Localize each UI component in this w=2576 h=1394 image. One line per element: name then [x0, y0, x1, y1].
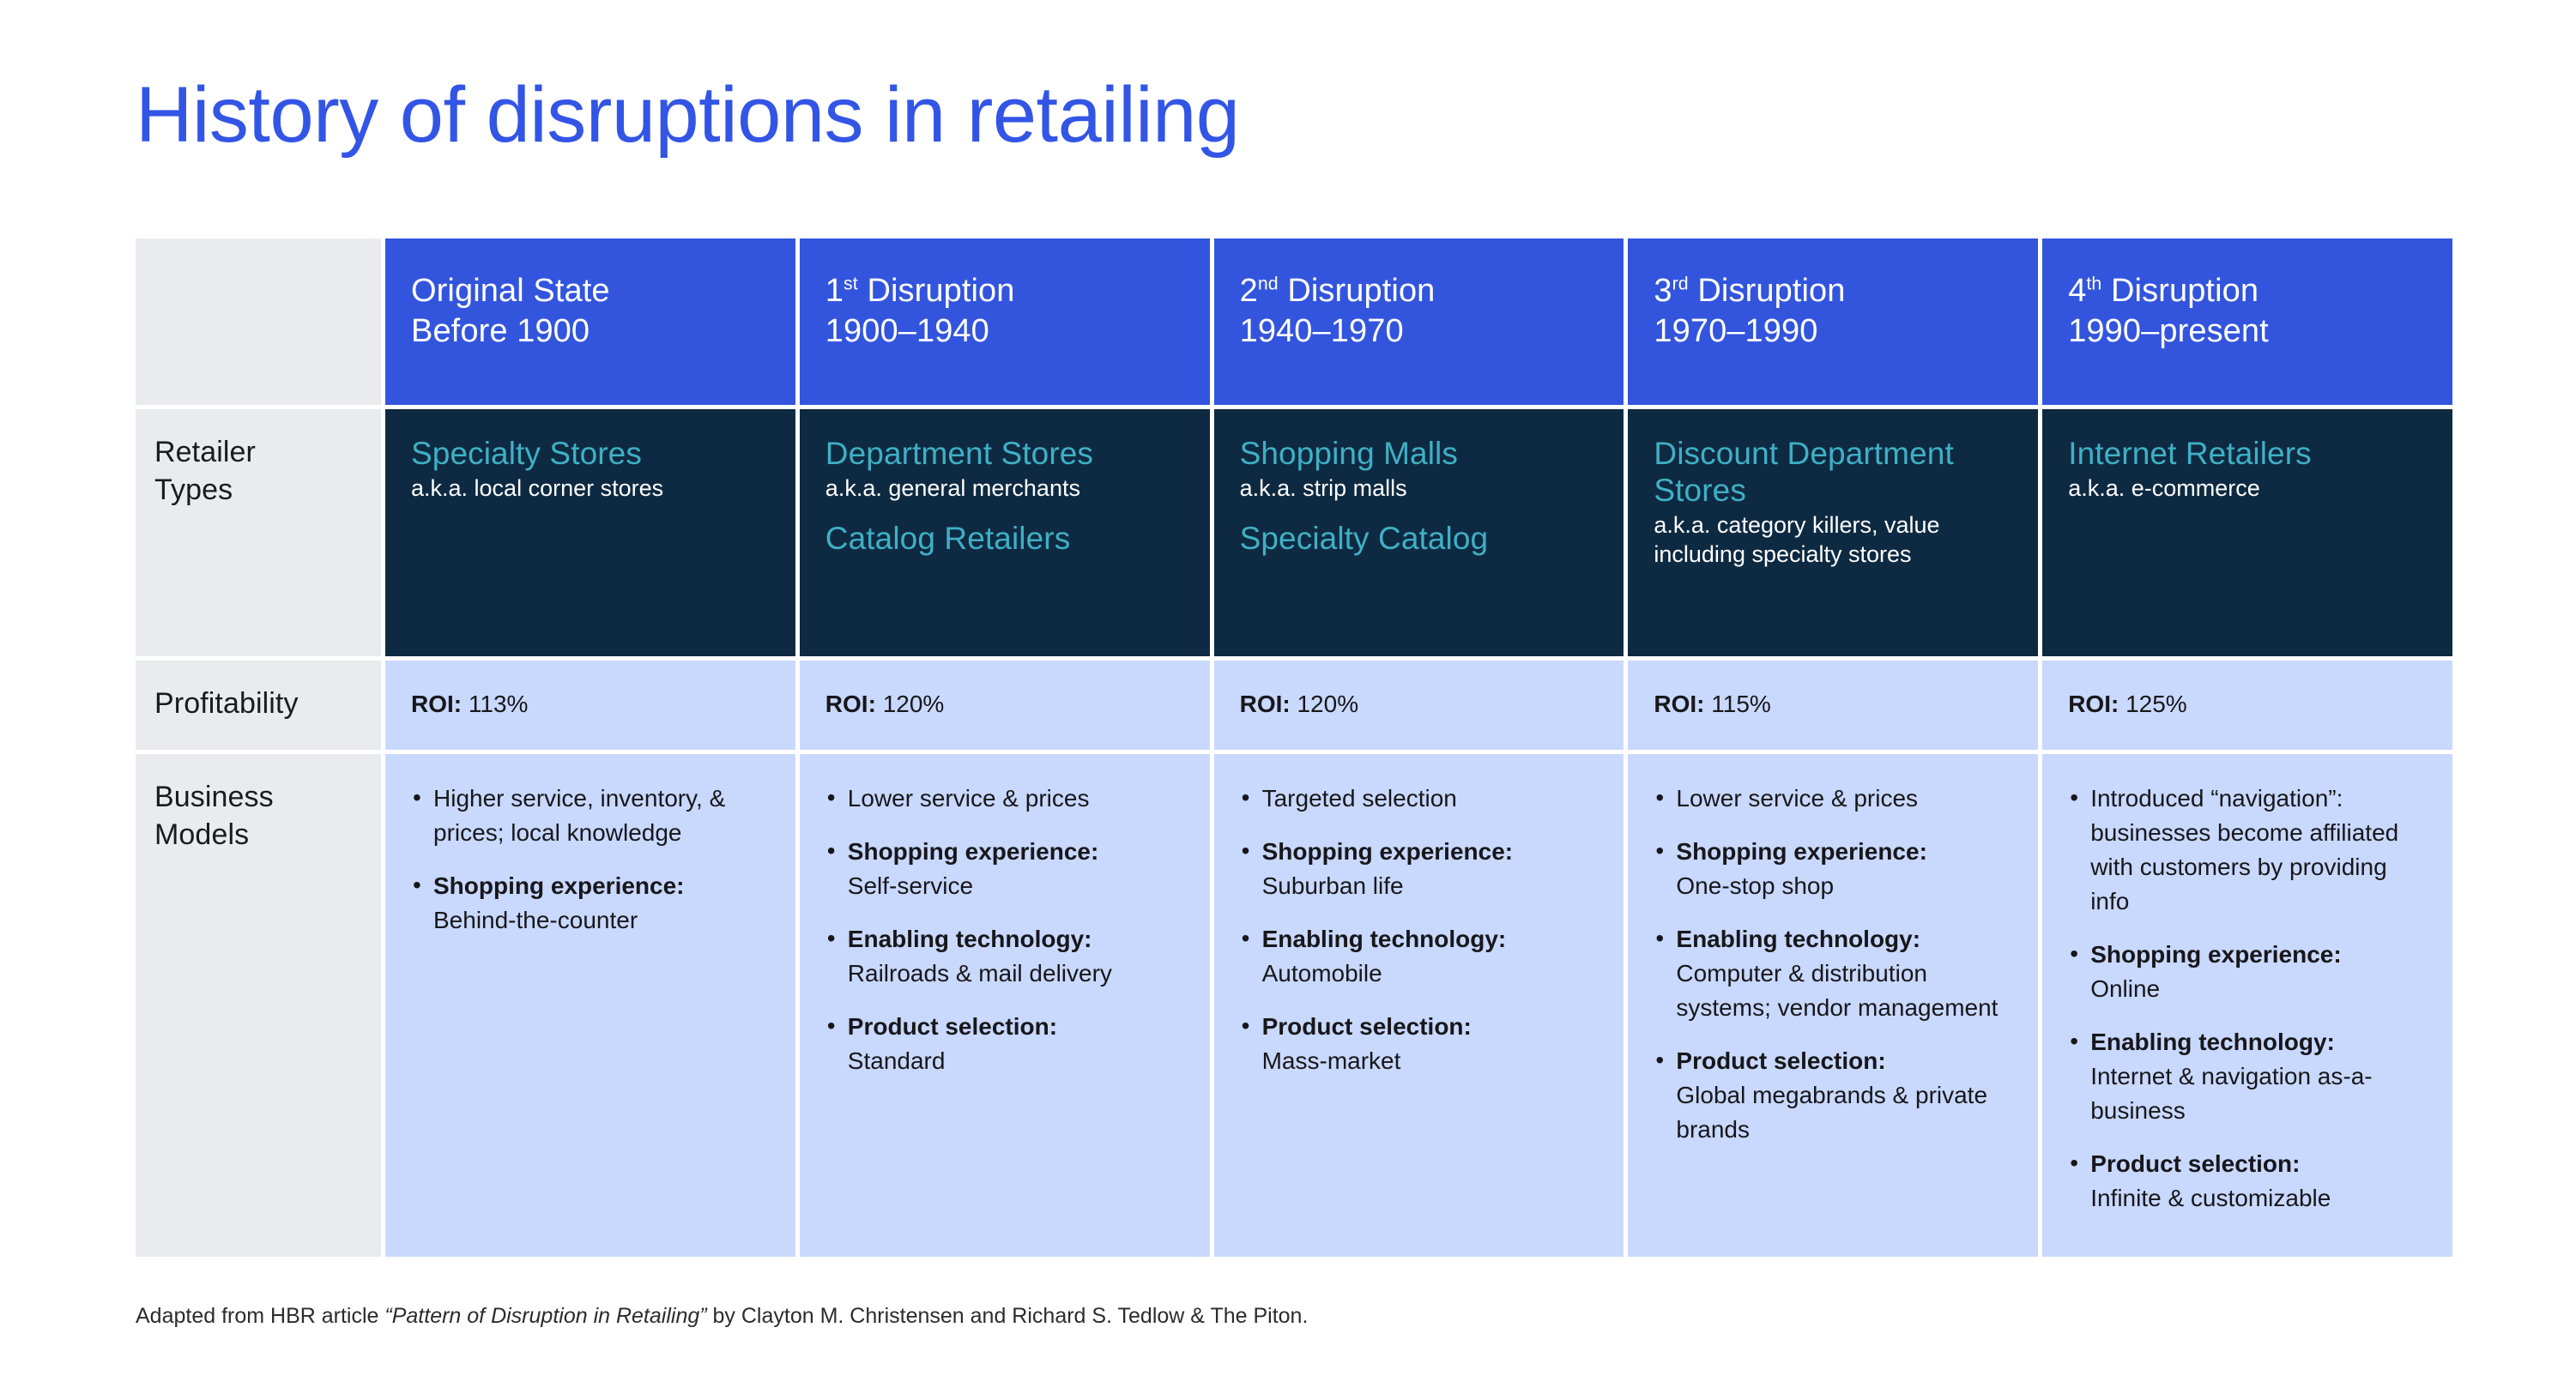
business-models-cell-3: Lower service & pricesShopping experienc…: [1628, 754, 2038, 1257]
business-model-item: Enabling technology:Railroads & mail del…: [825, 922, 1184, 991]
business-model-item: Enabling technology:Computer & distribut…: [1654, 922, 2012, 1025]
column-header-3: 3rd Disruption 1970–1990: [1628, 238, 2038, 405]
table-corner-cell: [136, 238, 381, 405]
roi-number-1: 120%: [883, 691, 945, 717]
business-model-item: Enabling technology:Internet & navigatio…: [2068, 1025, 2427, 1128]
row-label-profitability: Profitability: [136, 661, 381, 750]
business-model-item-label: Shopping experience:: [433, 872, 685, 899]
business-model-item-label: Product selection:: [1676, 1047, 1885, 1074]
business-model-item-text: Suburban life: [1262, 872, 1404, 899]
roi-label-2: ROI:: [1240, 691, 1291, 717]
business-model-item-text: Computer & distribution systems; vendor …: [1676, 960, 1998, 1021]
business-model-item-text: Internet & navigation as-a-business: [2090, 1063, 2372, 1124]
column-header-name-1: 1st Disruption: [825, 271, 1184, 311]
profitability-cell-0: ROI: 113%: [385, 661, 795, 750]
business-model-item-text: Online: [2090, 975, 2160, 1002]
business-model-item: Shopping experience:One-stop shop: [1654, 835, 2012, 903]
business-model-item-text: Standard: [848, 1047, 946, 1074]
retailer-type-name-3: Discount Department Stores: [1654, 435, 2012, 509]
business-model-item: Higher service, inventory, & prices; loc…: [411, 781, 770, 850]
business-model-item: Product selection:Infinite & customizabl…: [2068, 1147, 2427, 1216]
retailer-type-aka-4: a.k.a. e-commerce: [2068, 474, 2427, 503]
column-header-name-2: 2nd Disruption: [1240, 271, 1599, 311]
column-header-4: 4th Disruption 1990–present: [2042, 238, 2452, 405]
column-header-period-1: 1900–1940: [825, 311, 1184, 352]
row-label-profitability-text: Profitability: [154, 685, 362, 722]
row-label-retailer-types: Retailer Types: [136, 409, 381, 656]
retailer-types-cell-1: Department Stores a.k.a. general merchan…: [800, 409, 1210, 656]
business-models-list-2: Targeted selectionShopping experience:Su…: [1240, 781, 1599, 1078]
ordinal-suffix-3: rd: [1672, 273, 1689, 293]
business-models-cell-2: Targeted selectionShopping experience:Su…: [1214, 754, 1624, 1257]
retailer-types-cell-2: Shopping Malls a.k.a. strip malls Specia…: [1214, 409, 1624, 656]
business-model-item-label: Shopping experience:: [1676, 838, 1927, 865]
business-model-item: Shopping experience:Suburban life: [1240, 835, 1599, 903]
business-model-item-label: Enabling technology:: [1676, 926, 1920, 952]
column-header-name-3: 3rd Disruption: [1654, 271, 2012, 311]
roi-number-2: 120%: [1297, 691, 1358, 717]
business-model-item-text: Lower service & prices: [1676, 785, 1918, 812]
roi-label-0: ROI:: [411, 691, 462, 717]
roi-value-2: ROI: 120%: [1240, 690, 1599, 719]
roi-number-3: 115%: [1711, 691, 1771, 717]
business-model-item: Product selection:Standard: [825, 1010, 1184, 1078]
column-header-name-4: 4th Disruption: [2068, 271, 2427, 311]
column-header-period-2: 1940–1970: [1240, 311, 1599, 352]
profitability-cell-1: ROI: 120%: [800, 661, 1210, 750]
footnote-suffix: by Clayton M. Christensen and Richard S.…: [707, 1304, 1309, 1328]
retailer-type-name-4: Internet Retailers: [2068, 435, 2427, 472]
business-model-item-text: Behind-the-counter: [433, 907, 638, 933]
business-model-item-text: Infinite & customizable: [2090, 1185, 2331, 1211]
retailer-type-name-2b: Specialty Catalog: [1240, 520, 1599, 557]
row-label-retailer-types-line1: Retailer: [154, 433, 362, 471]
business-model-item: Shopping experience:Behind-the-counter: [411, 869, 770, 938]
retailer-types-cell-3: Discount Department Stores a.k.a. catego…: [1628, 409, 2038, 656]
business-model-item: Product selection:Global megabrands & pr…: [1654, 1044, 2012, 1147]
roi-number-4: 125%: [2126, 691, 2187, 717]
business-model-item: Product selection:Mass-market: [1240, 1010, 1599, 1078]
column-header-2: 2nd Disruption 1940–1970: [1214, 238, 1624, 405]
business-model-item-text: Lower service & prices: [848, 785, 1090, 812]
ordinal-suffix-1: st: [844, 273, 858, 293]
business-model-item: Enabling technology:Automobile: [1240, 922, 1599, 991]
business-model-item-text: Global megabrands & private brands: [1676, 1082, 1987, 1143]
business-model-item-label: Enabling technology:: [848, 926, 1092, 952]
business-model-item: Shopping experience:Online: [2068, 938, 2427, 1006]
ordinal-suffix-2: nd: [1258, 273, 1279, 293]
business-model-item-label: Enabling technology:: [2090, 1029, 2335, 1055]
business-model-item: Introduced “navigation”: businesses beco…: [2068, 781, 2427, 919]
profitability-cell-2: ROI: 120%: [1214, 661, 1624, 750]
column-header-0: Original State Before 1900: [385, 238, 795, 405]
business-models-list-3: Lower service & pricesShopping experienc…: [1654, 781, 2012, 1147]
business-models-list-1: Lower service & pricesShopping experienc…: [825, 781, 1184, 1078]
retailer-type-aka-2: a.k.a. strip malls: [1240, 474, 1599, 503]
business-model-item-label: Shopping experience:: [848, 838, 1099, 865]
roi-label-1: ROI:: [825, 691, 876, 717]
row-label-business-models: Business Models: [136, 754, 381, 1257]
business-models-list-4: Introduced “navigation”: businesses beco…: [2068, 781, 2427, 1216]
roi-number-0: 113%: [469, 691, 529, 717]
row-label-business-models-line1: Business: [154, 778, 362, 816]
page-title: History of disruptions in retailing: [136, 74, 1239, 156]
business-models-cell-0: Higher service, inventory, & prices; loc…: [385, 754, 795, 1257]
footnote-article-title: “Pattern of Disruption in Retailing”: [384, 1304, 706, 1328]
business-model-item-text: One-stop shop: [1676, 872, 1834, 899]
row-label-retailer-types-line2: Types: [154, 471, 362, 509]
business-model-item-label: Product selection:: [1262, 1013, 1472, 1040]
ordinal-suffix-4: th: [2086, 273, 2101, 293]
business-model-item: Lower service & prices: [825, 781, 1184, 816]
retailer-type-name-2: Shopping Malls: [1240, 435, 1599, 472]
business-model-item-text: Introduced “navigation”: businesses beco…: [2090, 785, 2398, 914]
business-model-item-text: Self-service: [848, 872, 973, 899]
business-model-item: Lower service & prices: [1654, 781, 2012, 816]
slide-canvas: History of disruptions in retailing Orig…: [0, 0, 2576, 1394]
retailer-type-name-0: Specialty Stores: [411, 435, 770, 472]
retailer-type-name-1: Department Stores: [825, 435, 1184, 472]
column-header-period-0: Before 1900: [411, 311, 770, 352]
retailer-type-aka-1: a.k.a. general merchants: [825, 474, 1184, 503]
business-model-item: Shopping experience:Self-service: [825, 835, 1184, 903]
roi-value-4: ROI: 125%: [2068, 690, 2427, 719]
column-header-name-0: Original State: [411, 271, 770, 311]
profitability-cell-3: ROI: 115%: [1628, 661, 2038, 750]
roi-value-3: ROI: 115%: [1654, 690, 2012, 719]
roi-label-4: ROI:: [2068, 691, 2119, 717]
column-header-period-4: 1990–present: [2068, 311, 2427, 352]
business-model-item-text: Targeted selection: [1262, 785, 1457, 812]
row-label-business-models-line2: Models: [154, 816, 362, 854]
retailer-type-aka-3: a.k.a. category killers, value including…: [1654, 510, 2012, 569]
profitability-cell-4: ROI: 125%: [2042, 661, 2452, 750]
business-model-item-label: Enabling technology:: [1262, 926, 1507, 952]
disruption-comparison-table: Original State Before 1900 1st Disruptio…: [136, 238, 2452, 1257]
roi-value-0: ROI: 113%: [411, 690, 770, 719]
business-model-item-label: Product selection:: [848, 1013, 1057, 1040]
retailer-type-aka-0: a.k.a. local corner stores: [411, 474, 770, 503]
business-model-item-label: Product selection:: [2090, 1150, 2300, 1177]
column-header-period-3: 1970–1990: [1654, 311, 2012, 352]
roi-label-3: ROI:: [1654, 691, 1704, 717]
roi-value-1: ROI: 120%: [825, 690, 1184, 719]
business-models-cell-4: Introduced “navigation”: businesses beco…: [2042, 754, 2452, 1257]
business-model-item-text: Railroads & mail delivery: [848, 960, 1112, 987]
business-model-item: Targeted selection: [1240, 781, 1599, 816]
business-models-cell-1: Lower service & pricesShopping experienc…: [800, 754, 1210, 1257]
business-model-item-text: Higher service, inventory, & prices; loc…: [433, 785, 725, 846]
retailer-types-cell-0: Specialty Stores a.k.a. local corner sto…: [385, 409, 795, 656]
business-model-item-label: Shopping experience:: [1262, 838, 1514, 865]
business-models-list-0: Higher service, inventory, & prices; loc…: [411, 781, 770, 938]
business-model-item-text: Automobile: [1262, 960, 1382, 987]
retailer-type-name-1b: Catalog Retailers: [825, 520, 1184, 557]
source-footnote: Adapted from HBR article “Pattern of Dis…: [136, 1302, 1308, 1330]
column-header-1: 1st Disruption 1900–1940: [800, 238, 1210, 405]
footnote-prefix: Adapted from HBR article: [136, 1304, 384, 1328]
business-model-item-text: Mass-market: [1262, 1047, 1401, 1074]
retailer-types-cell-4: Internet Retailers a.k.a. e-commerce: [2042, 409, 2452, 656]
business-model-item-label: Shopping experience:: [2090, 941, 2342, 968]
